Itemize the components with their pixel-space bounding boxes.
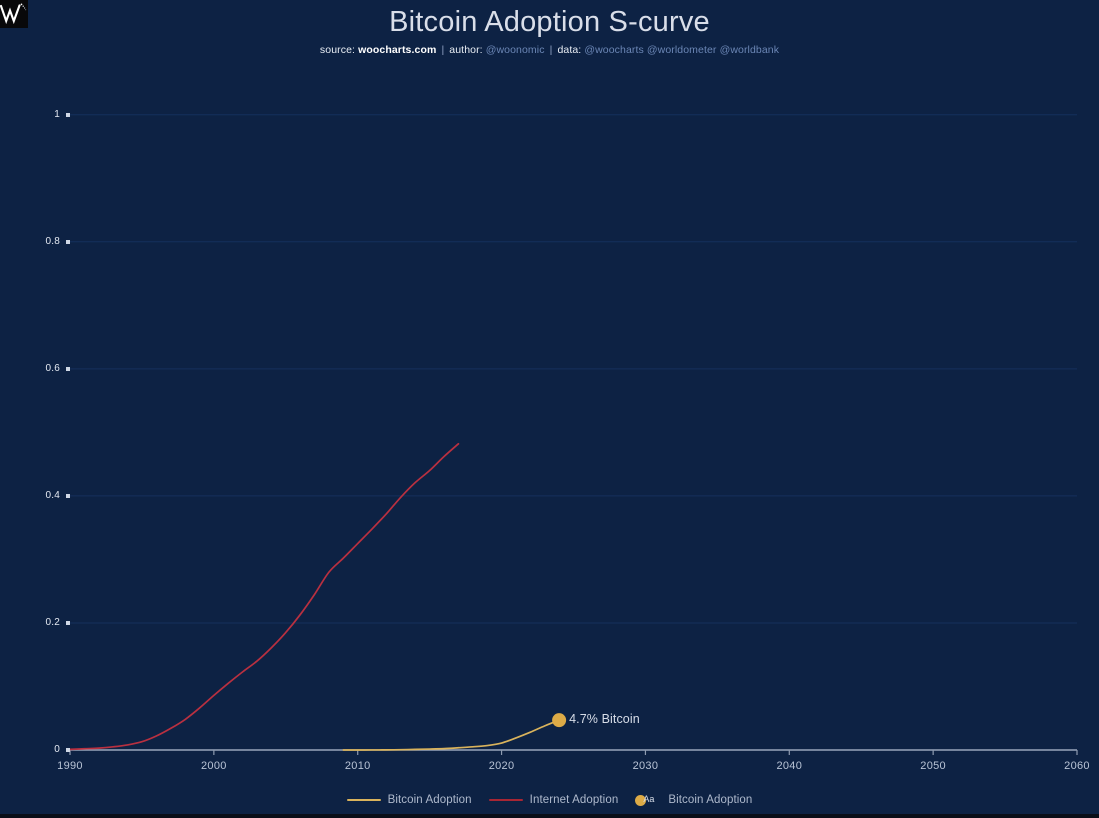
x-tick-label: 2060 [1047,760,1099,772]
y-tick-marker [66,494,70,498]
legend-marker-text: Aa [643,793,654,805]
y-tick-label: 0.4 [0,490,60,501]
annotation-label: 4.7% Bitcoin [569,712,640,726]
y-tick-marker [66,367,70,371]
legend-item-bitcoin-adoption-line[interactable]: Bitcoin Adoption [347,794,472,806]
y-tick-marker [66,621,70,625]
chart-legend: Bitcoin Adoption Internet Adoption Aa Bi… [0,793,1099,807]
gridlines [70,115,1077,623]
annotation-marker-dot[interactable] [552,713,566,727]
plot-svg [0,0,1099,818]
x-tick-label: 2050 [903,760,963,772]
legend-label-internet-adoption: Internet Adoption [530,794,619,806]
axis-layer [68,750,1077,755]
bottom-strip [0,814,1099,818]
legend-swatch-marker-bitcoin: Aa [635,793,661,807]
y-tick-label: 0.2 [0,617,60,628]
legend-item-bitcoin-adoption-marker[interactable]: Aa Bitcoin Adoption [635,793,752,807]
y-tick-marker [66,240,70,244]
x-tick-label: 2010 [328,760,388,772]
x-tick-label: 1990 [40,760,100,772]
plot-area [0,0,1099,818]
legend-item-internet-adoption-line[interactable]: Internet Adoption [489,794,619,806]
x-tick-label: 2000 [184,760,244,772]
chart-page: Bitcoin Adoption S-curve source: woochar… [0,0,1099,818]
legend-label-bitcoin-adoption-marker: Bitcoin Adoption [668,794,752,806]
legend-label-bitcoin-adoption: Bitcoin Adoption [388,794,472,806]
series-line-internet-adoption[interactable] [70,444,458,750]
y-tick-marker [66,113,70,117]
y-tick-label: 0.6 [0,363,60,374]
y-tick-label: 0.8 [0,236,60,247]
y-tick-label: 0 [0,744,60,755]
y-tick-label: 1 [0,109,60,120]
legend-swatch-line-internet [489,799,523,801]
series-line-bitcoin-adoption[interactable] [343,720,559,750]
y-tick-marker [66,748,70,752]
x-tick-label: 2020 [472,760,532,772]
legend-swatch-line-bitcoin [347,799,381,801]
x-tick-label: 2030 [615,760,675,772]
x-tick-label: 2040 [759,760,819,772]
